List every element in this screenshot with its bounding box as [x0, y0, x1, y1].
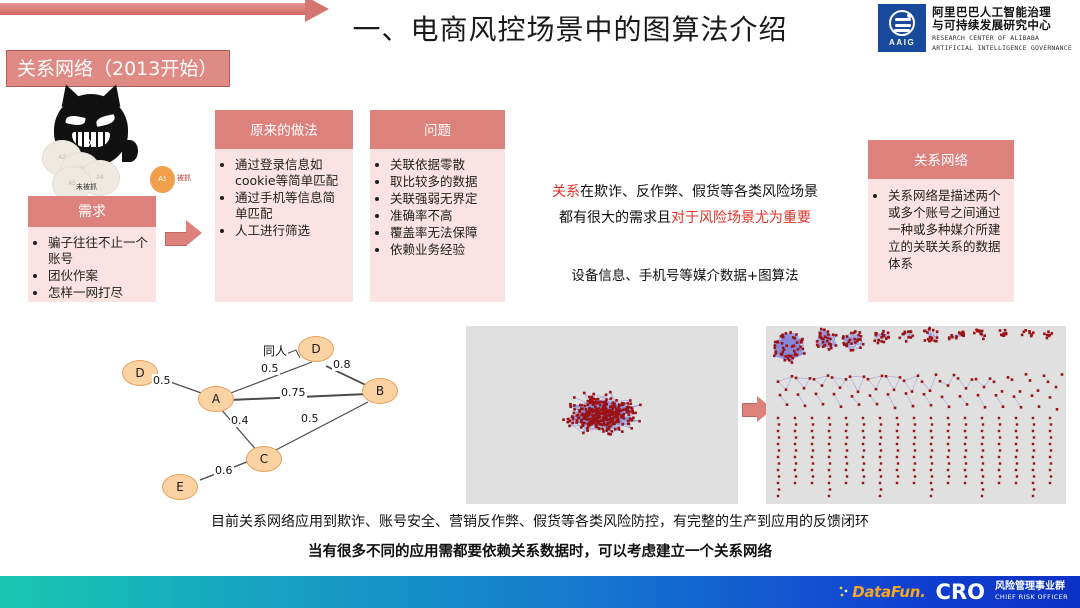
weighted-graph-diagram: D D A B C E 0.5 0.5 0.8 0.75 0.4 0.5 0.6…	[100, 312, 430, 512]
caught-node-a1: A1	[150, 166, 175, 193]
arrow-shaft	[165, 232, 187, 246]
list-item: 依赖业务经验	[390, 242, 497, 258]
graph-edge-weight-e-c: 0.6	[214, 464, 234, 477]
middle-text-highlight-2: 对于风险场景尤为重要	[671, 210, 811, 226]
graph-annotation-same-person: 同人	[262, 342, 288, 359]
middle-text-rest-1: 在欺诈、反作弊、假货等各类风险场景	[580, 184, 818, 200]
list-item: 人工进行筛选	[235, 223, 345, 239]
footnote-line-2: 当有很多不同的应用需都要依赖关系数据时，可以考虑建立一个关系网络	[0, 540, 1080, 561]
cro-logo: CRO	[936, 582, 985, 603]
aaig-emblem-icon	[889, 10, 915, 36]
footer-logos: DataFun. CRO 风险管理事业群 CHIEF RISK OFFICER	[839, 582, 1080, 603]
card-requirement: 需求 骗子往往不止一个账号 团伙作案 怎样一网打尽	[28, 196, 156, 302]
card-requirement-title: 需求	[28, 196, 156, 227]
list-item: 取比较多的数据	[390, 174, 497, 190]
graph-node-b: B	[362, 378, 398, 404]
caught-label: 被抓	[177, 173, 191, 183]
middle-text-line-1: 关系在欺诈、反作弊、假货等各类风险场景	[520, 180, 850, 204]
graph-edge-weight-c-b: 0.5	[300, 412, 320, 425]
list-item: 关联依据零散	[390, 157, 497, 173]
aaig-logo: AAIG 阿里巴巴人工智能治理 与可持续发展研究中心 RESEARCH CENT…	[878, 4, 1072, 52]
arrow-shaft	[0, 3, 306, 15]
dense-network-visualization	[466, 326, 738, 504]
card-old-method-title: 原来的做法	[215, 110, 353, 149]
arrow-transform	[0, 0, 330, 18]
arrow-head	[186, 220, 202, 246]
list-item: 覆盖率无法保障	[390, 225, 497, 241]
cro-wordmark: 风险管理事业群 CHIEF RISK OFFICER	[995, 582, 1068, 602]
list-item: 关联强弱无界定	[390, 191, 497, 207]
arrow-shaft	[742, 403, 758, 417]
graph-node-c: C	[246, 446, 282, 472]
graph-edge-weight-d-top-b: 0.8	[332, 358, 352, 371]
cro-en-label: CHIEF RISK OFFICER	[995, 592, 1068, 602]
card-relation-network-body: 关系网络是描述两个或多个账号之间通过一种或多种媒介所建立的关联关系的数据体系	[868, 179, 1014, 281]
middle-text-line-3: 设备信息、手机号等媒介数据+图算法	[520, 264, 850, 288]
middle-text-highlight-1: 关系	[552, 184, 580, 200]
list-item: 通过登录信息如cookie等简单匹配	[235, 157, 345, 189]
aaig-en-line-1: RESEARCH CENTER OF ALIBABA	[932, 34, 1072, 42]
datafun-dots-icon	[839, 586, 850, 598]
graph-edge-weight-d-left-a: 0.5	[152, 374, 172, 387]
clustered-network-svg	[766, 326, 1066, 504]
arrow-head	[305, 0, 329, 22]
list-item: 团伙作案	[48, 268, 148, 284]
fraudster-illustration: X A2 A3 A4 A5 未被抓 A1 被抓	[14, 80, 194, 200]
list-item: 怎样一网打尽	[48, 285, 148, 301]
graph-edge-weight-a-d-top: 0.5	[260, 362, 280, 375]
footnote-line-1: 目前关系网络应用到欺诈、账号安全、营销反作弊、假货等各类风险防控，有完整的生产到…	[0, 511, 1080, 531]
datafun-label: DataFun.	[852, 583, 925, 601]
cat-tail-icon	[122, 140, 138, 162]
card-relation-network-title: 关系网络	[868, 140, 1014, 179]
middle-text-line-2: 都有很大的需求且对于风险场景尤为重要	[520, 206, 850, 230]
list-item: 骗子往往不止一个账号	[48, 235, 148, 267]
cat-x-mark: X	[88, 138, 94, 148]
datafun-logo: DataFun.	[839, 583, 925, 601]
uncaught-label: 未被抓	[76, 182, 97, 192]
aaig-logo-mark: AAIG	[878, 4, 926, 52]
aaig-logo-wordmark: 阿里巴巴人工智能治理 与可持续发展研究中心 RESEARCH CENTER OF…	[932, 4, 1072, 52]
aaig-cn-line-2: 与可持续发展研究中心	[932, 19, 1072, 32]
card-problem-title: 问题	[370, 110, 505, 149]
list-item: 关系网络是描述两个或多个账号之间通过一种或多种媒介所建立的关联关系的数据体系	[888, 187, 1006, 272]
list-item: 通过手机等信息简单匹配	[235, 190, 345, 222]
dense-network-svg	[466, 326, 738, 504]
arrow-requirement-to-method	[165, 226, 205, 254]
graph-node-e: E	[162, 474, 198, 500]
cro-cn-label: 风险管理事业群	[995, 582, 1068, 592]
slide-canvas: 一、电商风控场景中的图算法介绍 AAIG 阿里巴巴人工智能治理 与可持续发展研究…	[0, 0, 1080, 608]
card-problem-body: 关联依据零散 取比较多的数据 关联强弱无界定 准确率不高 覆盖率无法保障 依赖业…	[370, 149, 505, 267]
graph-node-a: A	[198, 386, 234, 412]
card-problem: 问题 关联依据零散 取比较多的数据 关联强弱无界定 准确率不高 覆盖率无法保障 …	[370, 110, 505, 302]
graph-node-d-top: D	[298, 336, 334, 362]
clustered-network-visualization	[766, 326, 1066, 504]
card-old-method-body: 通过登录信息如cookie等简单匹配 通过手机等信息简单匹配 人工进行筛选	[215, 149, 353, 248]
graph-edge-weight-a-b: 0.75	[280, 386, 307, 399]
list-item: 准确率不高	[390, 208, 497, 224]
card-relation-network: 关系网络 关系网络是描述两个或多个账号之间通过一种或多种媒介所建立的关联关系的数…	[868, 140, 1014, 302]
card-old-method: 原来的做法 通过登录信息如cookie等简单匹配 通过手机等信息简单匹配 人工进…	[215, 110, 353, 302]
footer-bar: DataFun. CRO 风险管理事业群 CHIEF RISK OFFICER	[0, 576, 1080, 608]
graph-edge-weight-a-c: 0.4	[230, 414, 250, 427]
aaig-en-line-2: ARTIFICIAL INTELLIGENCE GOVERNANCE	[932, 44, 1072, 52]
card-requirement-body: 骗子往往不止一个账号 团伙作案 怎样一网打尽	[28, 227, 156, 310]
aaig-logo-acronym: AAIG	[889, 38, 915, 47]
middle-text-rest-2: 都有很大的需求且	[559, 210, 671, 226]
page-title: 一、电商风控场景中的图算法介绍	[300, 8, 840, 48]
